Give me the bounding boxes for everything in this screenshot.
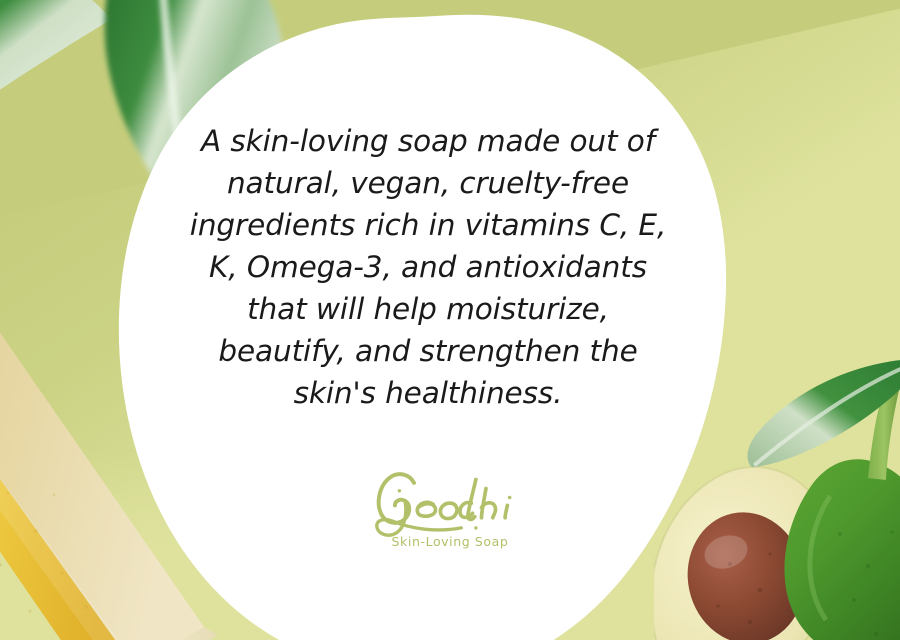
leaf-icon-avocado	[740, 349, 900, 485]
promo-content: A skin-loving soap made out of natural, …	[178, 120, 678, 414]
brand-logo: Skin-Loving Soap	[365, 466, 535, 549]
promo-canvas: A skin-loving soap made out of natural, …	[0, 0, 900, 640]
brand-wordmark-geodhi	[365, 466, 535, 538]
page-title: A skin-loving soap made out of natural, …	[178, 120, 678, 414]
